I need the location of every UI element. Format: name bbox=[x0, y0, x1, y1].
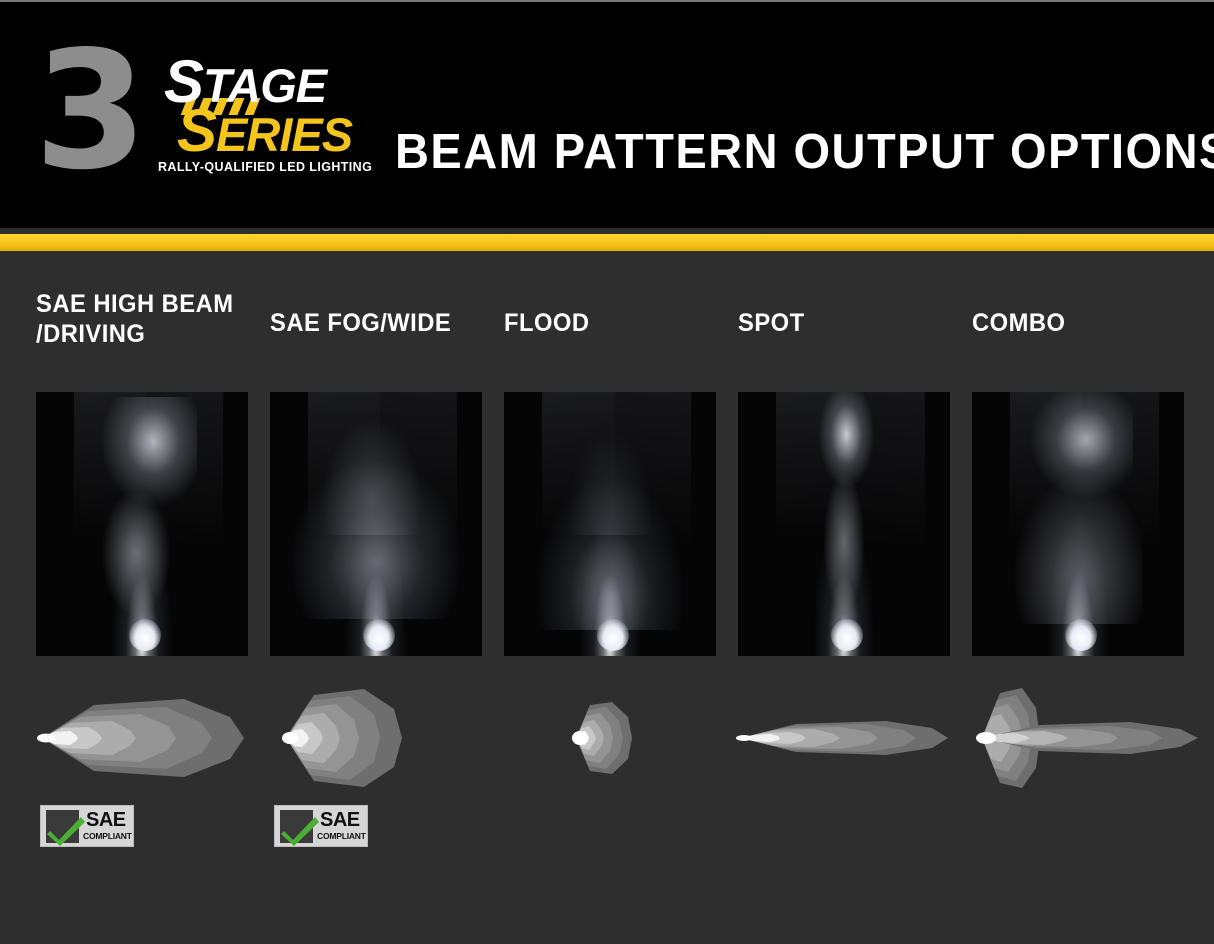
beam-pattern-infographic: 3 STAGE SERIES RALLY-QUALIFIED LED LIGHT… bbox=[0, 0, 1214, 944]
check-icon bbox=[47, 816, 85, 846]
beam-photo bbox=[504, 392, 716, 656]
column-label-line1: COMBO bbox=[972, 308, 1192, 338]
column-label: COMBO bbox=[972, 308, 1192, 338]
beam-diagram bbox=[268, 683, 504, 793]
column-label-line1: SAE FOG/WIDE bbox=[270, 308, 490, 338]
header-banner: 3 STAGE SERIES RALLY-QUALIFIED LED LIGHT… bbox=[0, 0, 1214, 228]
column-label-line1: SAE HIGH BEAM bbox=[36, 289, 256, 319]
badge-title: SAE bbox=[320, 810, 360, 830]
column-spot: SPOT bbox=[736, 251, 972, 944]
column-label: SAE FOG/WIDE bbox=[270, 308, 490, 338]
logo-word-series-text: SERIES bbox=[177, 108, 352, 161]
pattern-columns: SAE HIGH BEAM /DRIVING bbox=[0, 251, 1214, 944]
column-label: SPOT bbox=[738, 308, 958, 338]
beam-photo bbox=[972, 392, 1184, 656]
beam-diagram bbox=[970, 683, 1206, 793]
sae-compliant-badge: SAE COMPLIANT bbox=[40, 805, 134, 847]
page-title: BEAM PATTERN OUTPUT OPTIONS bbox=[395, 121, 1163, 183]
badge-subtitle: COMPLIANT bbox=[317, 831, 366, 841]
sae-compliant-badge: SAE COMPLIANT bbox=[274, 805, 368, 847]
column-label: SAE HIGH BEAM /DRIVING bbox=[36, 289, 256, 349]
beam-photo bbox=[738, 392, 950, 656]
column-label-line2: /DRIVING bbox=[36, 319, 256, 349]
accent-divider-bar bbox=[0, 234, 1214, 251]
column-label: FLOOD bbox=[504, 308, 724, 338]
check-icon bbox=[281, 816, 319, 846]
column-label-line1: FLOOD bbox=[504, 308, 724, 338]
beam-diagram bbox=[736, 683, 972, 793]
column-label-line1: SPOT bbox=[738, 308, 958, 338]
badge-title: SAE bbox=[86, 810, 126, 830]
column-flood: FLOOD bbox=[502, 251, 738, 944]
badge-subtitle: COMPLIANT bbox=[83, 831, 132, 841]
brand-logo: 3 STAGE SERIES RALLY-QUALIFIED LED LIGHT… bbox=[34, 46, 364, 192]
beam-photo bbox=[36, 392, 248, 656]
beam-diagram bbox=[502, 683, 738, 793]
logo-word-series: SERIES bbox=[177, 107, 352, 158]
header-top-rule bbox=[0, 0, 1214, 2]
column-sae-fog-wide: SAE FOG/WIDE bbox=[268, 251, 504, 944]
beam-photo bbox=[270, 392, 482, 656]
column-combo: COMBO bbox=[970, 251, 1206, 944]
logo-tagline: RALLY-QUALIFIED LED LIGHTING bbox=[158, 160, 372, 174]
beam-diagram bbox=[34, 683, 270, 793]
column-sae-high-beam-driving: SAE HIGH BEAM /DRIVING bbox=[34, 251, 270, 944]
